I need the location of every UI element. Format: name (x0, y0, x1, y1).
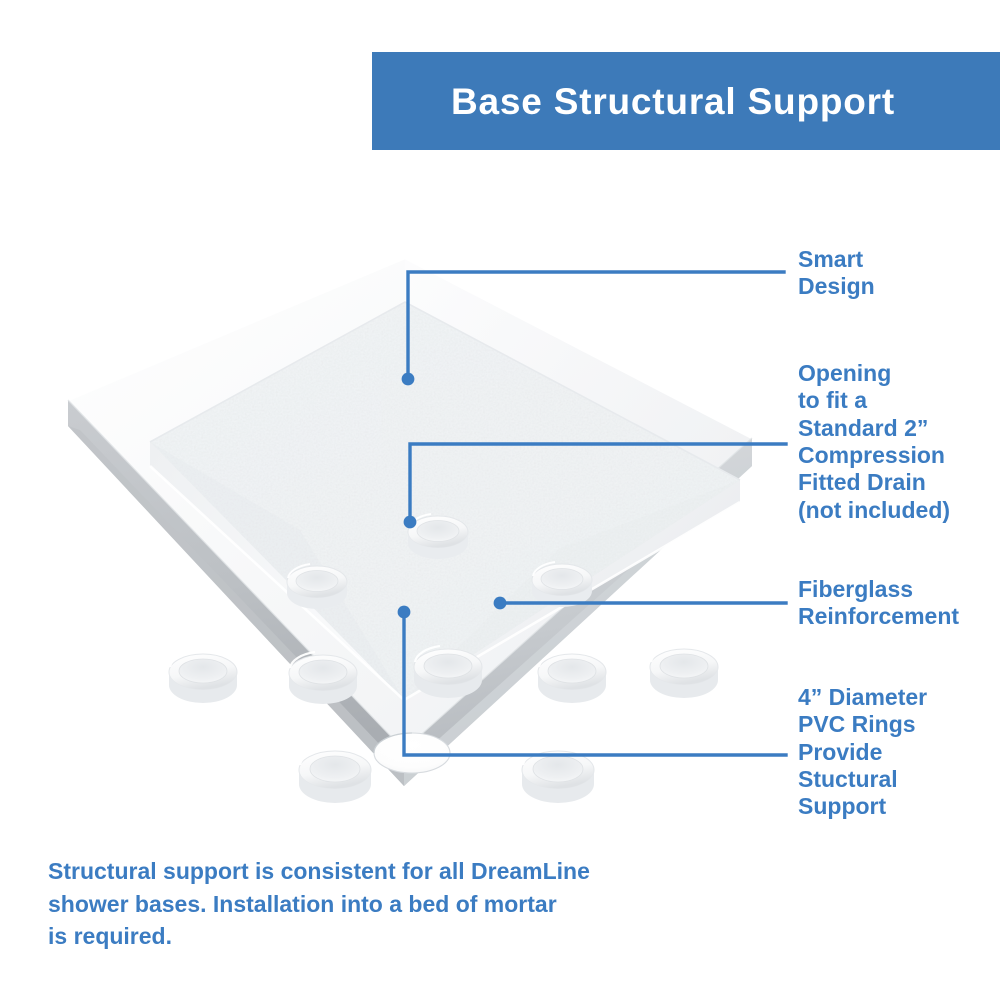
pvc-ring (169, 651, 237, 703)
pvc-ring (289, 652, 357, 704)
pvc-ring (299, 748, 371, 803)
callout-label-fiberglass: Fiberglass Reinforcement (798, 576, 959, 631)
callout-label-drain-opening: Opening to fit a Standard 2” Compression… (798, 360, 950, 524)
drain-opening (374, 733, 450, 773)
callout-label-smart-design: Smart Design (798, 246, 875, 301)
pvc-ring (522, 748, 594, 803)
pvc-ring (287, 564, 347, 609)
pvc-ring (532, 562, 592, 607)
poster-canvas: Base Structural Support (0, 0, 1000, 1000)
shower-base-illustration (40, 230, 780, 810)
page-title: Base Structural Support (451, 83, 921, 120)
pvc-ring (414, 646, 482, 698)
header-banner: Base Structural Support (372, 52, 1000, 150)
callout-label-pvc-rings: 4” Diameter PVC Rings Provide Stuctural … (798, 684, 927, 821)
pvc-ring (408, 514, 468, 559)
pvc-ring (650, 646, 718, 698)
pvc-ring (538, 651, 606, 703)
footer-caption: Structural support is consistent for all… (48, 855, 668, 953)
